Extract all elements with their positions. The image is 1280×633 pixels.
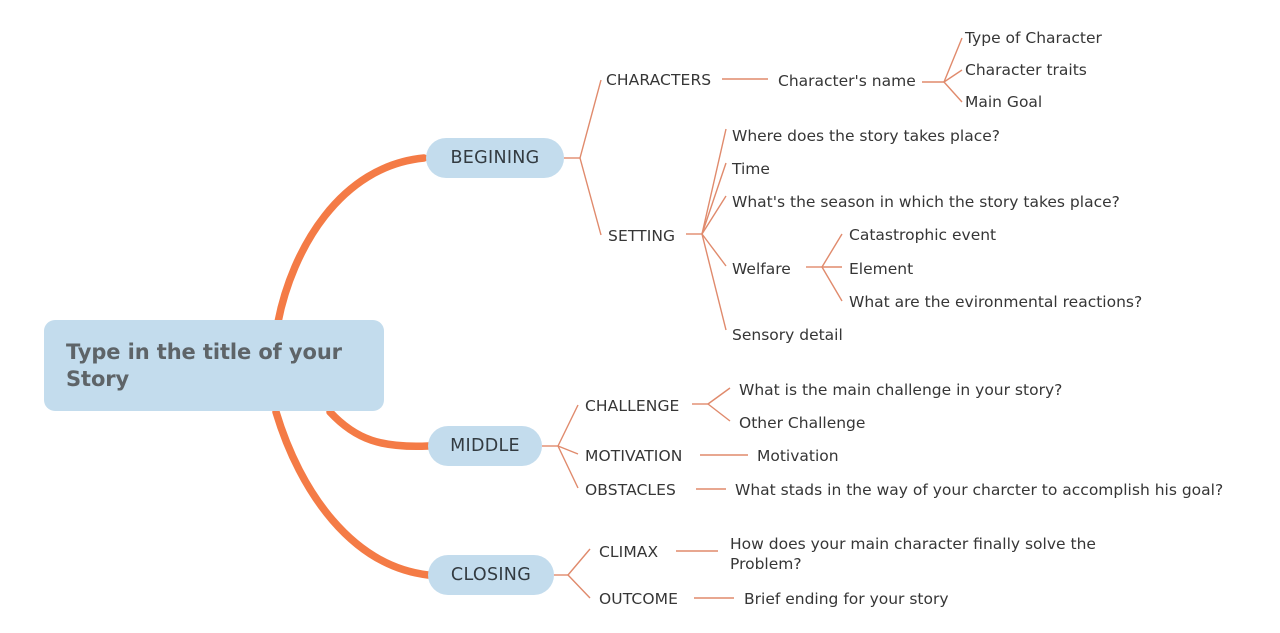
- topic-node-middle[interactable]: MIDDLE: [428, 426, 542, 466]
- node-character-traits[interactable]: Character traits: [965, 60, 1087, 80]
- topic-node-closing[interactable]: CLOSING: [428, 555, 554, 595]
- node-other-challenge[interactable]: Other Challenge: [739, 413, 865, 433]
- branch-middle-to-obstacles: [558, 446, 578, 488]
- branch-setting-to-where: [702, 129, 726, 234]
- branch-begining-to-setting: [580, 158, 601, 235]
- node-welfare[interactable]: Welfare: [732, 259, 791, 279]
- branch-setting-to-welfare: [702, 234, 726, 266]
- node-type-of-character[interactable]: Type of Character: [965, 28, 1102, 48]
- topic-node-middle-label: MIDDLE: [450, 436, 520, 456]
- node-time[interactable]: Time: [732, 159, 770, 179]
- branch-root-to-closing: [276, 412, 428, 575]
- root-node[interactable]: Type in the title of your Story: [44, 320, 384, 411]
- branch-challenge-to-main: [708, 388, 730, 404]
- branch-middle-to-challenge: [558, 405, 578, 446]
- branch-name-to-type: [944, 38, 962, 82]
- branch-begining-to-characters: [580, 80, 601, 158]
- mindmap-canvas: Type in the title of your Story BEGINING…: [0, 0, 1280, 633]
- node-season[interactable]: What's the season in which the story tak…: [732, 192, 1120, 212]
- node-climax-child[interactable]: How does your main character finally sol…: [730, 534, 1102, 574]
- node-challenge[interactable]: CHALLENGE: [585, 396, 679, 416]
- branch-root-to-middle: [330, 412, 428, 446]
- node-element[interactable]: Element: [849, 259, 913, 279]
- branch-root-to-begining: [278, 158, 424, 322]
- topic-node-begining[interactable]: BEGINING: [426, 138, 564, 178]
- topic-node-closing-label: CLOSING: [451, 565, 531, 585]
- node-characters[interactable]: CHARACTERS: [606, 70, 711, 90]
- node-characters-name[interactable]: Character's name: [778, 71, 916, 91]
- node-main-goal[interactable]: Main Goal: [965, 92, 1042, 112]
- branch-setting-to-time: [702, 163, 726, 234]
- node-where-story[interactable]: Where does the story takes place?: [732, 126, 1000, 146]
- branch-challenge-to-other: [708, 404, 730, 421]
- node-main-challenge[interactable]: What is the main challenge in your story…: [739, 380, 1062, 400]
- branch-welfare-to-catastrophic: [822, 234, 842, 267]
- branch-setting-to-sensory: [702, 234, 726, 330]
- root-node-label: Type in the title of your Story: [66, 339, 362, 393]
- branch-name-to-goal: [944, 82, 962, 102]
- node-outcome-child[interactable]: Brief ending for your story: [744, 589, 949, 609]
- node-environmental-reactions[interactable]: What are the evironmental reactions?: [849, 292, 1142, 312]
- branch-setting-to-season: [702, 196, 726, 234]
- node-climax[interactable]: CLIMAX: [599, 542, 658, 562]
- node-sensory-detail[interactable]: Sensory detail: [732, 325, 843, 345]
- node-obstacles[interactable]: OBSTACLES: [585, 480, 676, 500]
- topic-node-begining-label: BEGINING: [450, 148, 539, 168]
- node-catastrophic-event[interactable]: Catastrophic event: [849, 225, 996, 245]
- node-motivation[interactable]: MOTIVATION: [585, 446, 682, 466]
- node-setting[interactable]: SETTING: [608, 226, 675, 246]
- node-motivation-child[interactable]: Motivation: [757, 446, 839, 466]
- node-obstacles-child[interactable]: What stads in the way of your charcter t…: [735, 480, 1223, 500]
- branch-closing-to-climax: [568, 549, 590, 575]
- branch-welfare-to-environmental: [822, 267, 842, 301]
- branch-middle-to-motivation: [558, 446, 578, 454]
- branch-closing-to-outcome: [568, 575, 590, 598]
- node-outcome[interactable]: OUTCOME: [599, 589, 678, 609]
- branch-name-to-traits: [944, 70, 962, 82]
